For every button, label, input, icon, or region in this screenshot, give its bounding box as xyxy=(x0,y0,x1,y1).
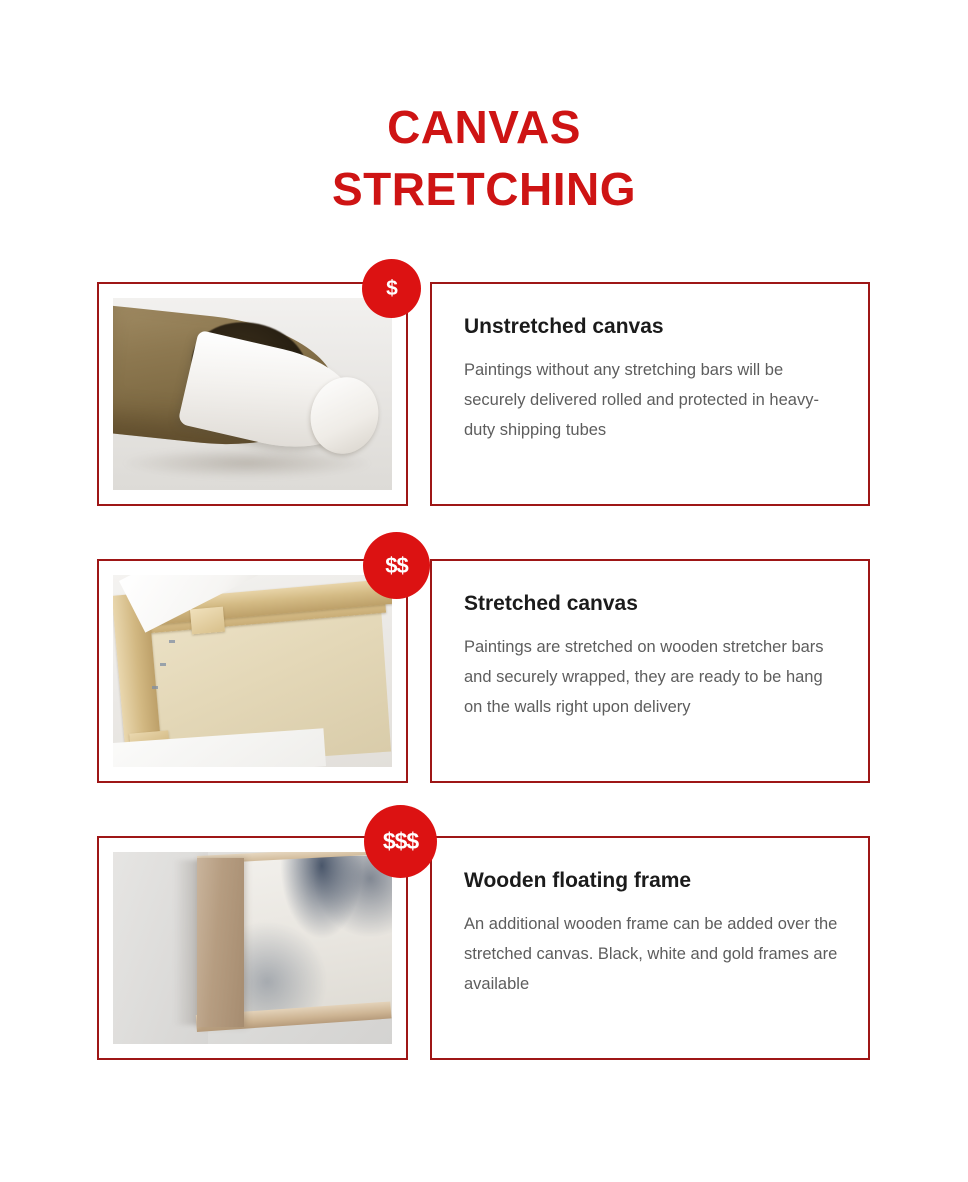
card-body-2: Paintings are stretched on wooden stretc… xyxy=(464,632,838,722)
image-card-wooden-floating-frame[interactable] xyxy=(97,836,408,1060)
card-title-3: Wooden floating frame xyxy=(464,868,838,894)
tube-shadow-shape xyxy=(124,448,370,479)
image-card-unstretched-canvas[interactable] xyxy=(97,282,408,506)
image-card-stretched-canvas[interactable] xyxy=(97,559,408,783)
page-title-line-2: STRETCHING xyxy=(0,158,968,220)
card-title-2: Stretched canvas xyxy=(464,591,838,617)
page-title: CANVAS STRETCHING xyxy=(0,96,968,220)
page-title-line-1: CANVAS xyxy=(0,96,968,158)
staple-icon xyxy=(152,686,158,689)
card-title-1: Unstretched canvas xyxy=(464,314,838,340)
stretcher-corner-block xyxy=(190,606,226,634)
text-card-unstretched-canvas[interactable]: Unstretched canvas Paintings without any… xyxy=(430,282,870,506)
frame-side-rail-shape xyxy=(197,858,244,1027)
staple-icon xyxy=(160,663,166,666)
photo-rolled-canvas-in-shipping-tube xyxy=(113,298,392,490)
text-card-stretched-canvas[interactable]: Stretched canvas Paintings are stretched… xyxy=(430,559,870,783)
photo-wooden-floating-frame xyxy=(113,852,392,1044)
card-body-3: An additional wooden frame can be added … xyxy=(464,909,838,999)
option-list: $ Unstretched canvas Paintings without a… xyxy=(0,282,968,1113)
photo-stretched-canvas-back xyxy=(113,575,392,767)
card-body-1: Paintings without any stretching bars wi… xyxy=(464,355,838,445)
text-card-wooden-floating-frame[interactable]: Wooden floating frame An additional wood… xyxy=(430,836,870,1060)
artwork-canvas-shape xyxy=(236,856,392,1017)
option-row-unstretched-canvas: $ Unstretched canvas Paintings without a… xyxy=(0,282,968,506)
option-row-wooden-floating-frame: $$$ Wooden floating frame An additional … xyxy=(0,836,968,1060)
canvas-stretching-infographic: CANVAS STRETCHING $ Unstretched canvas xyxy=(0,0,968,1182)
option-row-stretched-canvas: $$ Stretched canvas Paintings are stretc… xyxy=(0,559,968,783)
staple-icon xyxy=(169,640,175,643)
